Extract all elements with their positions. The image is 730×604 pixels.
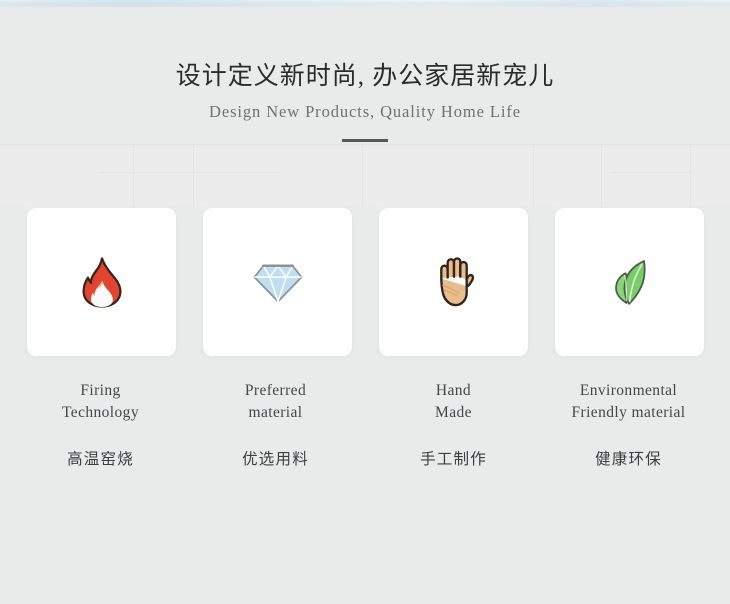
feature-label-hand-made: Hand Made 手工制作: [366, 380, 541, 471]
feature-card-row: [0, 208, 730, 358]
diamond-icon: [203, 208, 352, 356]
background-guide-line: [193, 145, 194, 207]
feature-label-en: Firing Technology: [13, 380, 188, 424]
feature-label-environmental-friendly: Environmental Friendly material 健康环保: [541, 380, 716, 471]
background-panel: [0, 145, 730, 207]
leaf-icon: [555, 208, 704, 356]
feature-card-firing-technology[interactable]: [27, 208, 176, 356]
feature-card-environmental-friendly[interactable]: [555, 208, 704, 356]
feature-highlights-page: 设计定义新时尚, 办公家居新宠儿 Design New Products, Qu…: [0, 0, 730, 604]
page-title: 设计定义新时尚, 办公家居新宠儿: [0, 60, 730, 94]
background-guide-line: [533, 145, 534, 207]
fire-icon: [27, 208, 176, 356]
title-divider-rule: [342, 139, 388, 142]
background-guide-line: [362, 145, 363, 207]
background-guide-line: [690, 145, 691, 207]
page-subtitle: Design New Products, Quality Home Life: [0, 101, 730, 123]
feature-label-en: Hand Made: [366, 380, 541, 424]
section-divider-line: [0, 144, 730, 145]
feature-label-en: Preferred material: [188, 380, 363, 424]
feature-label-preferred-material: Preferred material 优选用料: [188, 380, 363, 471]
raised-hand-icon: [379, 208, 528, 356]
feature-card-hand-made[interactable]: [379, 208, 528, 356]
feature-label-cn: 手工制作: [366, 449, 541, 471]
feature-label-cn: 健康环保: [541, 449, 716, 471]
feature-label-cn: 高温窑烧: [13, 449, 188, 471]
background-guide-line: [133, 145, 134, 207]
background-guide-line: [612, 172, 692, 173]
section-header: 设计定义新时尚, 办公家居新宠儿 Design New Products, Qu…: [0, 60, 730, 142]
background-guide-line: [100, 172, 280, 173]
feature-card-preferred-material[interactable]: [203, 208, 352, 356]
feature-label-row: Firing Technology 高温窑烧 Preferred materia…: [0, 380, 730, 500]
top-accent-band-tint: [0, 0, 730, 7]
feature-label-firing-technology: Firing Technology 高温窑烧: [13, 380, 188, 471]
feature-label-en: Environmental Friendly material: [541, 380, 716, 424]
feature-label-cn: 优选用料: [188, 449, 363, 471]
background-guide-line: [601, 145, 602, 207]
